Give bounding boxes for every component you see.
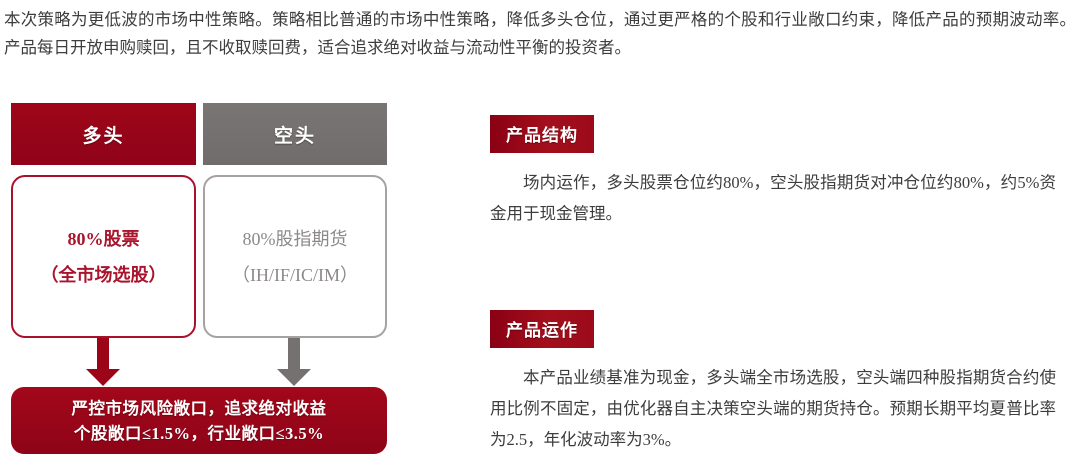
intro-paragraph: 本次策略为更低波的市场中性策略。策略相比普通的市场中性策略，降低多头仓位，通过更… xyxy=(4,6,1076,62)
long-leg-box: 80%股票 （全市场选股） xyxy=(11,175,196,338)
strategy-diagram: 多头 空头 80%股票 （全市场选股） 80%股指期货 （IH/IF/IC/IM… xyxy=(0,95,430,468)
long-leg-box-line2: （全市场选股） xyxy=(41,257,167,293)
arrow-shaft xyxy=(97,338,109,370)
down-arrow-gray-icon xyxy=(277,338,311,386)
risk-control-banner-line2: 个股敞口≤1.5%，行业敞口≤3.5% xyxy=(74,421,324,446)
down-arrow-red-icon xyxy=(86,338,120,386)
short-leg-box-line2: （IH/IF/IC/IM） xyxy=(232,257,358,293)
section-product-structure-badge: 产品结构 xyxy=(490,115,594,153)
description-panel: 产品结构 场内运作，多头股票仓位约80%，空头股指期货对冲仓位约80%，约5%资… xyxy=(490,95,1070,468)
long-leg-header-label: 多头 xyxy=(82,121,124,148)
section-product-operation-body: 本产品业绩基准为现金，多头端全市场选股，空头端四种股指期货合约使用比例不固定，由… xyxy=(490,362,1056,455)
long-leg-box-line1: 80%股票 xyxy=(68,221,140,257)
arrow-shaft xyxy=(288,338,300,370)
section-product-operation: 产品运作 本产品业绩基准为现金，多头端全市场选股，空头端四种股指期货合约使用比例… xyxy=(490,310,1070,455)
arrow-head xyxy=(86,369,120,386)
arrow-head xyxy=(277,369,311,386)
risk-control-banner: 严控市场风险敞口，追求绝对收益 个股敞口≤1.5%，行业敞口≤3.5% xyxy=(11,387,387,454)
section-product-structure: 产品结构 场内运作，多头股票仓位约80%，空头股指期货对冲仓位约80%，约5%资… xyxy=(490,115,1070,229)
short-leg-header-label: 空头 xyxy=(274,121,316,148)
short-leg-box: 80%股指期货 （IH/IF/IC/IM） xyxy=(203,175,387,338)
section-product-structure-body: 场内运作，多头股票仓位约80%，空头股指期货对冲仓位约80%，约5%资金用于现金… xyxy=(490,167,1056,229)
short-leg-box-line1: 80%股指期货 xyxy=(243,221,348,257)
risk-control-banner-line1: 严控市场风险敞口，追求绝对收益 xyxy=(72,396,327,421)
section-product-operation-badge: 产品运作 xyxy=(490,310,594,348)
long-leg-header: 多头 xyxy=(11,103,196,165)
short-leg-header: 空头 xyxy=(203,103,387,165)
